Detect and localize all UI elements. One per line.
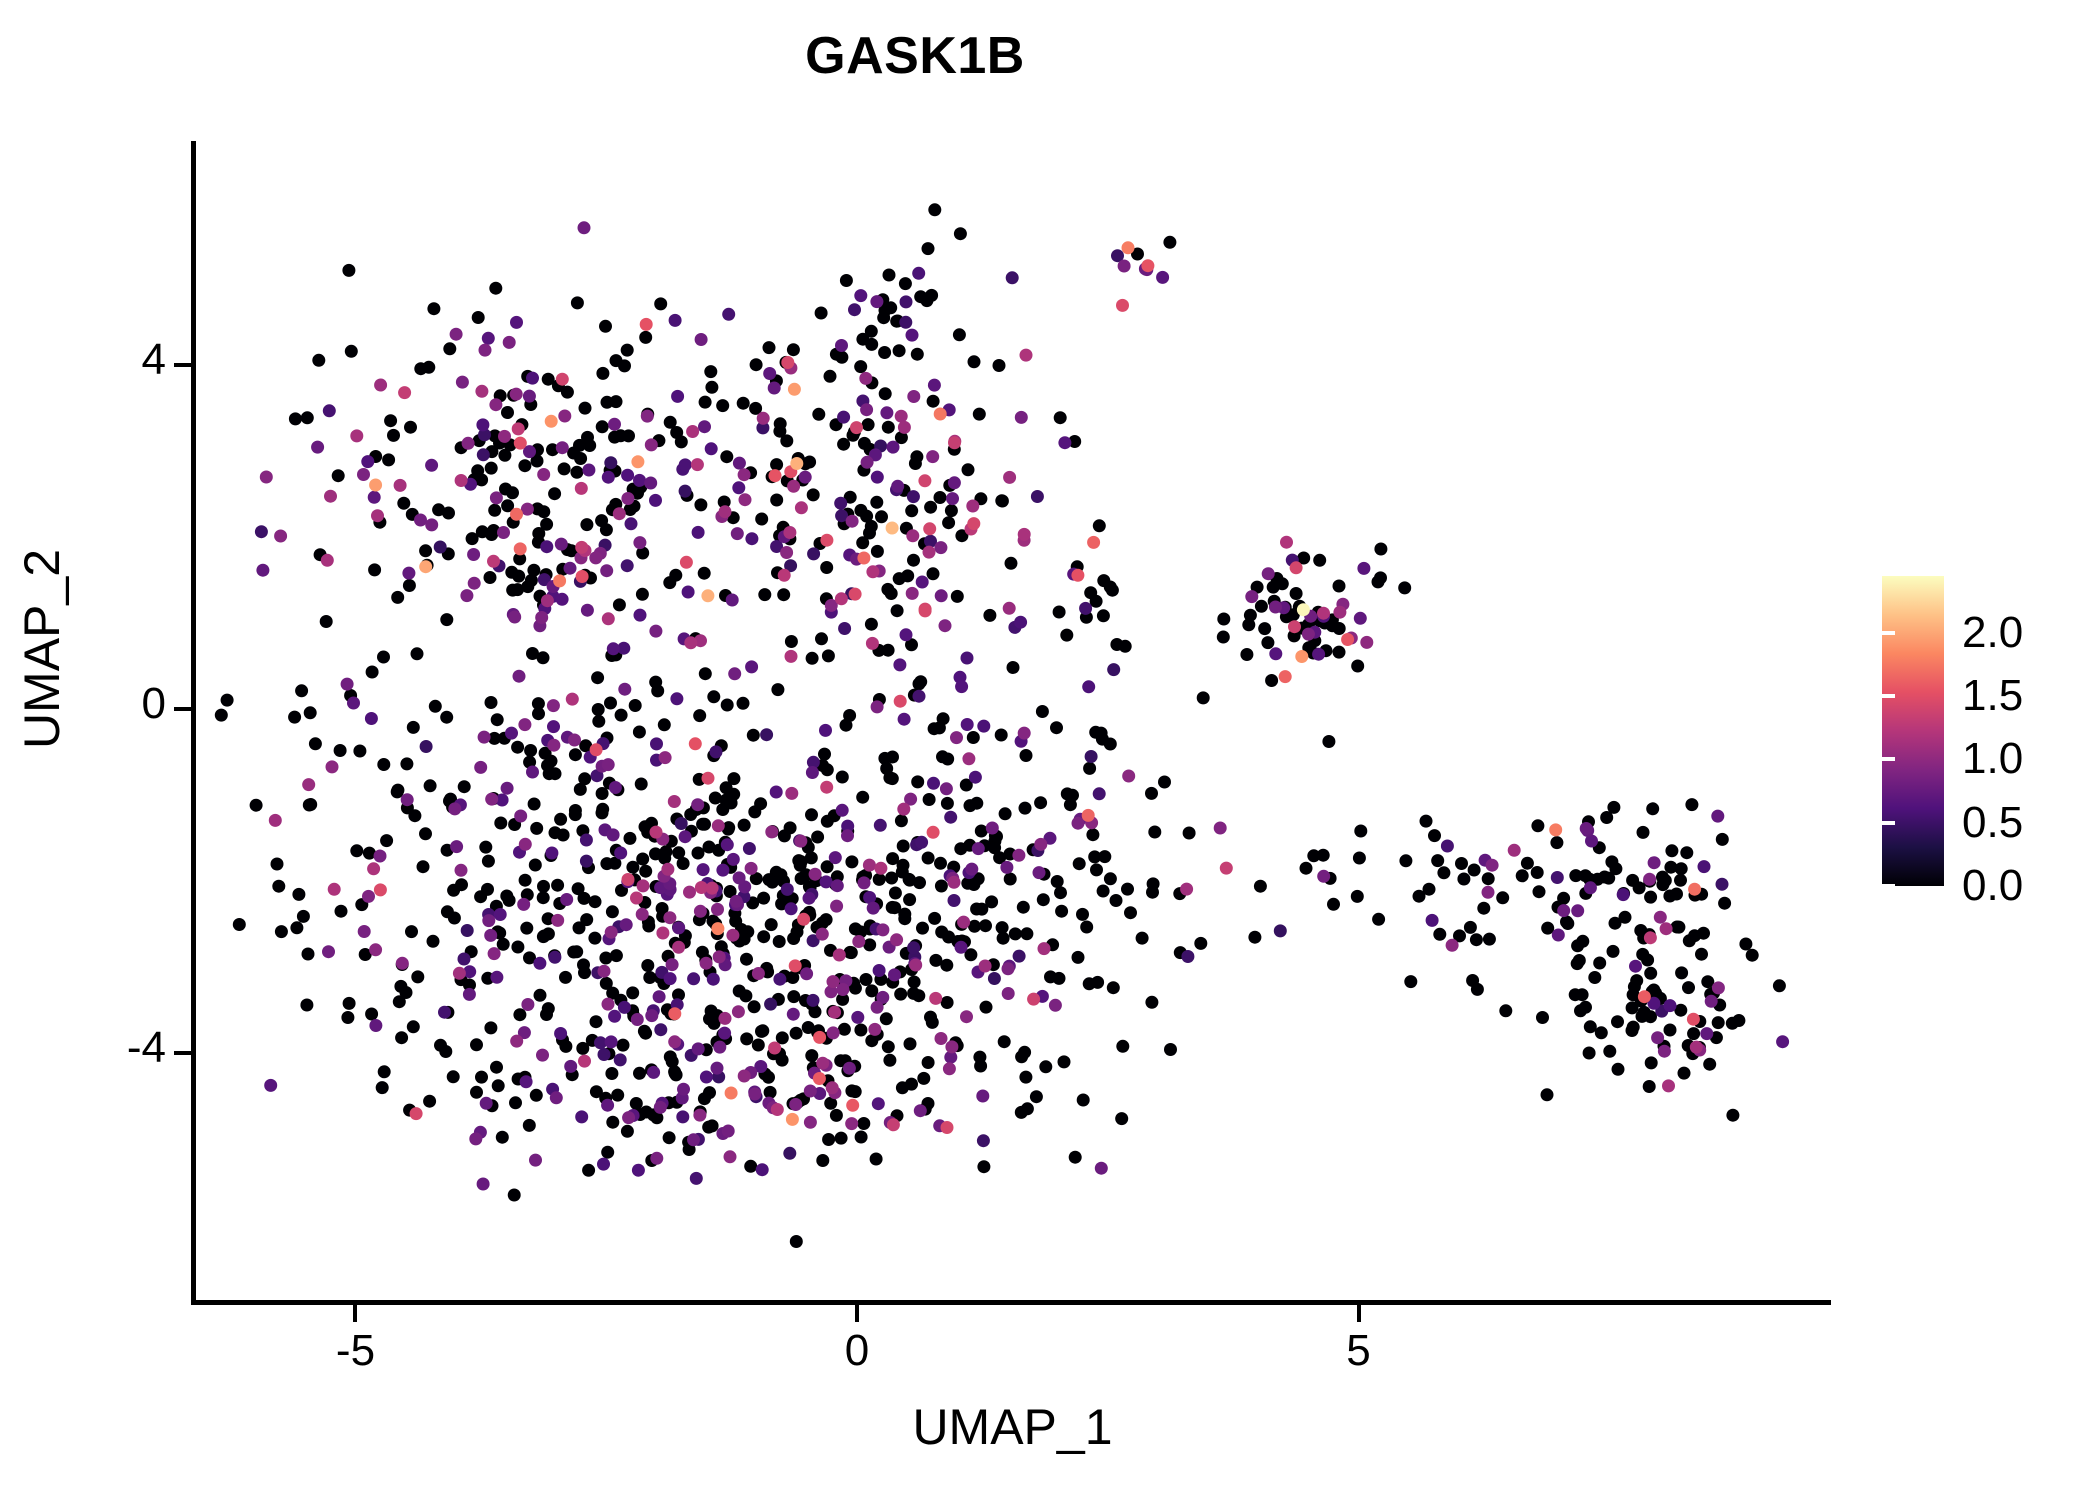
page-title: GASK1B [0, 26, 1830, 86]
x-tick-label: 5 [1279, 1326, 1439, 1376]
colorbar [1882, 576, 1944, 886]
chart-root: GASK1B 40-4 -505 UMAP_2 UMAP_1 2.01.51.0… [0, 0, 2100, 1500]
scatter-points [215, 203, 1789, 1248]
y-tick-mark [174, 363, 191, 367]
colorbar-tick-label: 2.0 [1962, 608, 2092, 658]
x-tick-label: -5 [275, 1326, 435, 1376]
x-tick-mark [353, 1305, 357, 1322]
x-axis-line [191, 1300, 1831, 1305]
plot-panel [195, 141, 1830, 1302]
y-tick-label: -4 [0, 1023, 166, 1073]
y-axis-title: UMAP_2 [13, 349, 71, 949]
colorbar-tick-label: 0.5 [1962, 798, 2092, 848]
colorbar-tick-mark [1882, 694, 1895, 698]
colorbar-tick-mark [1869, 694, 1882, 698]
y-axis-line [191, 141, 196, 1305]
colorbar-tick-mark [1869, 821, 1882, 825]
colorbar-tick-mark [1882, 884, 1895, 888]
scatter-plot [195, 141, 1830, 1302]
y-tick-mark [174, 707, 191, 711]
colorbar-tick-mark [1882, 631, 1895, 635]
colorbar-tick-mark [1869, 757, 1882, 761]
colorbar-tick-label: 1.0 [1962, 734, 2092, 784]
x-tick-mark [855, 1305, 859, 1322]
colorbar-tick-mark [1869, 884, 1882, 888]
x-tick-mark [1357, 1305, 1361, 1322]
x-tick-label: 0 [777, 1326, 937, 1376]
colorbar-tick-label: 1.5 [1962, 671, 2092, 721]
colorbar-tick-label: 0.0 [1962, 861, 2092, 911]
colorbar-tick-mark [1869, 631, 1882, 635]
colorbar-tick-mark [1882, 821, 1895, 825]
colorbar-tick-mark [1882, 757, 1895, 761]
x-axis-title: UMAP_1 [195, 1398, 1830, 1456]
y-tick-mark [174, 1051, 191, 1055]
